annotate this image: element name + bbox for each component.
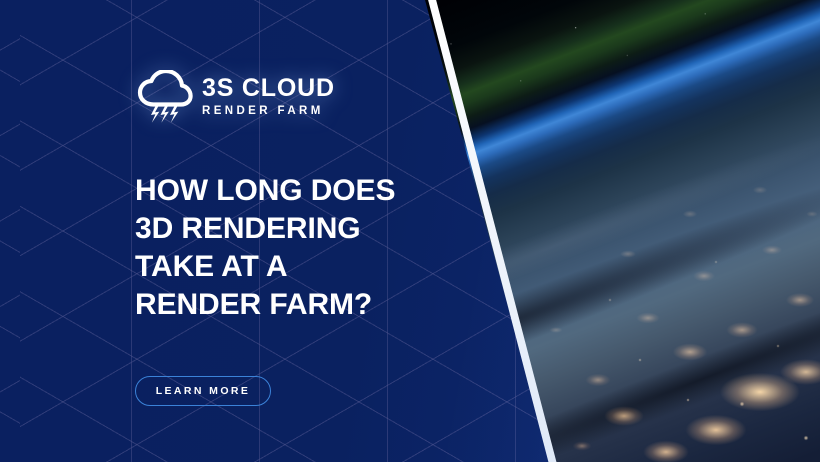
headline-line-4: RENDER FARM?	[135, 286, 425, 324]
headline-line-1: HOW LONG DOES	[135, 172, 425, 210]
learn-more-button[interactable]: LEARN MORE	[135, 376, 271, 406]
brand-name: 3S CLOUD	[202, 76, 335, 101]
promo-banner: 3S CLOUD RENDER FARM HOW LONG DOES 3D RE…	[0, 0, 820, 462]
brand-wordmark: 3S CLOUD RENDER FARM	[202, 76, 335, 118]
page-title: HOW LONG DOES 3D RENDERING TAKE AT A REN…	[135, 172, 425, 324]
brand-tagline: RENDER FARM	[202, 106, 335, 118]
cloud-with-lightning-icon	[135, 70, 193, 124]
brand-logo[interactable]: 3S CLOUD RENDER FARM	[135, 70, 335, 124]
headline-line-2: 3D RENDERING	[135, 210, 425, 248]
banner-content: 3S CLOUD RENDER FARM HOW LONG DOES 3D RE…	[135, 0, 435, 462]
headline-line-3: TAKE AT A	[135, 248, 425, 286]
